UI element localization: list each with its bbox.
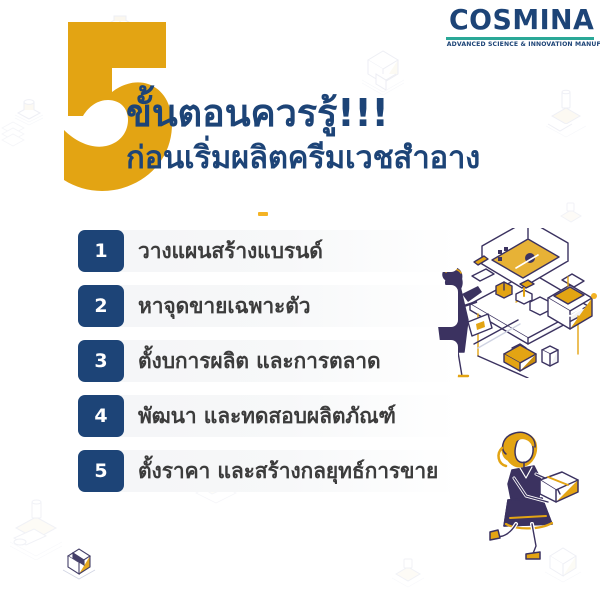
step-number: 1: [78, 230, 124, 272]
step-label: วางแผนสร้างแบรนด์: [124, 230, 458, 272]
jar-icon: [12, 92, 46, 126]
headline-line-2: ก่อนเริ่มผลิตครีมเวชสำอาง: [126, 141, 480, 176]
jar-icon: [556, 198, 586, 232]
step-number: 2: [78, 285, 124, 327]
list-item: 1 วางแผนสร้างแบรนด์: [78, 230, 458, 272]
step-label: ตั้งราคา และสร้างกลยุทธ์การขาย: [124, 450, 458, 492]
papers-icon: [0, 108, 26, 168]
boxes-icon: [60, 538, 98, 582]
headline: ขั้นตอนควรรู้!!! ก่อนเริ่มผลิตครีมเวชสำอ…: [126, 92, 480, 175]
logo-divider: [446, 37, 594, 40]
dash-accent-icon: [258, 212, 268, 216]
machine-icon: [6, 490, 68, 560]
brand-logo: COSMINA ADVANCED SCIENCE & INNOVATION MA…: [446, 6, 594, 48]
list-item: 2 หาจุดขายเฉพาะตัว: [78, 285, 458, 327]
step-number: 3: [78, 340, 124, 382]
jar-icon: [388, 552, 428, 596]
list-item: 4 พัฒนา และทดสอบผลิตภัณฑ์: [78, 395, 458, 437]
isometric-woman-with-box-illustration: [486, 420, 592, 560]
step-label: ตั้งบการผลิต และการตลาด: [124, 340, 458, 382]
cream-pump-icon: [540, 76, 592, 140]
list-item: 3 ตั้งบการผลิต และการตลาด: [78, 340, 458, 382]
logo-wordmark: COSMINA: [449, 6, 591, 34]
step-number: 5: [78, 450, 124, 492]
logo-tagline: ADVANCED SCIENCE & INNOVATION MANUFACTUR…: [447, 42, 594, 49]
headline-line-1: ขั้นตอนควรรู้!!!: [126, 92, 480, 135]
list-item: 5 ตั้งราคา และสร้างกลยุทธ์การขาย: [78, 450, 458, 492]
step-number: 4: [78, 395, 124, 437]
poster-canvas: COSMINA ADVANCED SCIENCE & INNOVATION MA…: [0, 0, 600, 600]
steps-list: 1 วางแผนสร้างแบรนด์ 2 หาจุดขายเฉพาะตัว 3…: [78, 230, 458, 505]
step-label: พัฒนา และทดสอบผลิตภัณฑ์: [124, 395, 458, 437]
step-label: หาจุดขายเฉพาะตัว: [124, 285, 458, 327]
boxes-icon: [352, 36, 414, 98]
